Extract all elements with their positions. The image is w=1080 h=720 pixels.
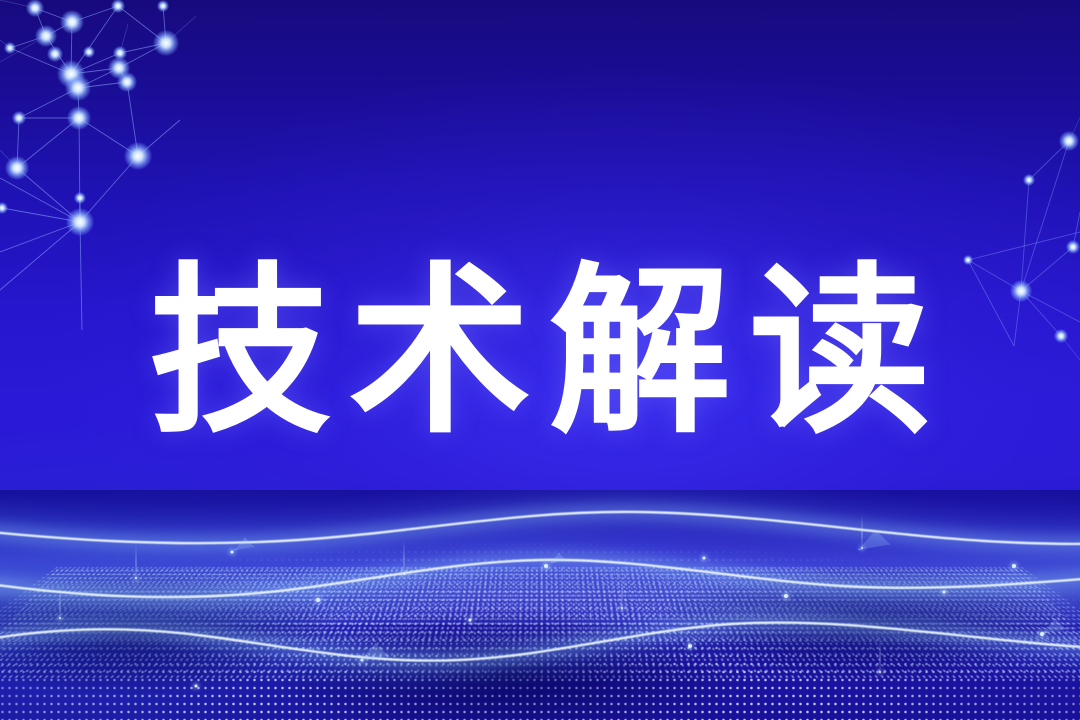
wave-speck (943, 591, 946, 594)
wave-speck (688, 644, 692, 648)
wave-speck (469, 619, 472, 622)
wave-light-streak (880, 638, 881, 676)
banner-canvas: 技术解读 (0, 0, 1080, 720)
wave-light-streak (136, 544, 137, 582)
wave-speck (195, 685, 198, 688)
wave-speck (1012, 564, 1016, 568)
wave-speck (784, 594, 788, 598)
wave-light-streak (622, 574, 623, 612)
wave-trough-shading (0, 490, 1080, 720)
wave-speck (231, 551, 234, 554)
particle-wave (0, 490, 1080, 720)
wave-light-streak (60, 584, 61, 622)
wave-speck (316, 598, 320, 602)
wave-speck (703, 557, 706, 560)
page-title: 技术解读 (0, 252, 1080, 452)
wave-speck (544, 564, 548, 568)
wave-light-streak (404, 540, 405, 578)
